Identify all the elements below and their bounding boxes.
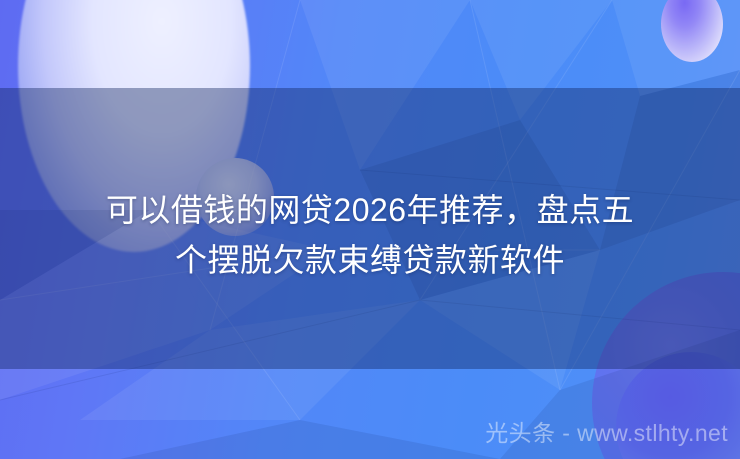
article-cover-image: 可以借钱的网贷2026年推荐，盘点五 个摆脱欠款束缚贷款新软件 光头条 - ww… <box>0 0 740 459</box>
decorative-ellipse-top-right <box>661 0 723 62</box>
cover-title: 可以借钱的网贷2026年推荐，盘点五 个摆脱欠款束缚贷款新软件 <box>0 185 740 285</box>
site-watermark: 光头条 - www.stlhty.net <box>485 419 728 447</box>
cover-title-line-1: 可以借钱的网贷2026年推荐，盘点五 <box>0 185 740 235</box>
cover-title-line-2: 个摆脱欠款束缚贷款新软件 <box>0 235 740 285</box>
